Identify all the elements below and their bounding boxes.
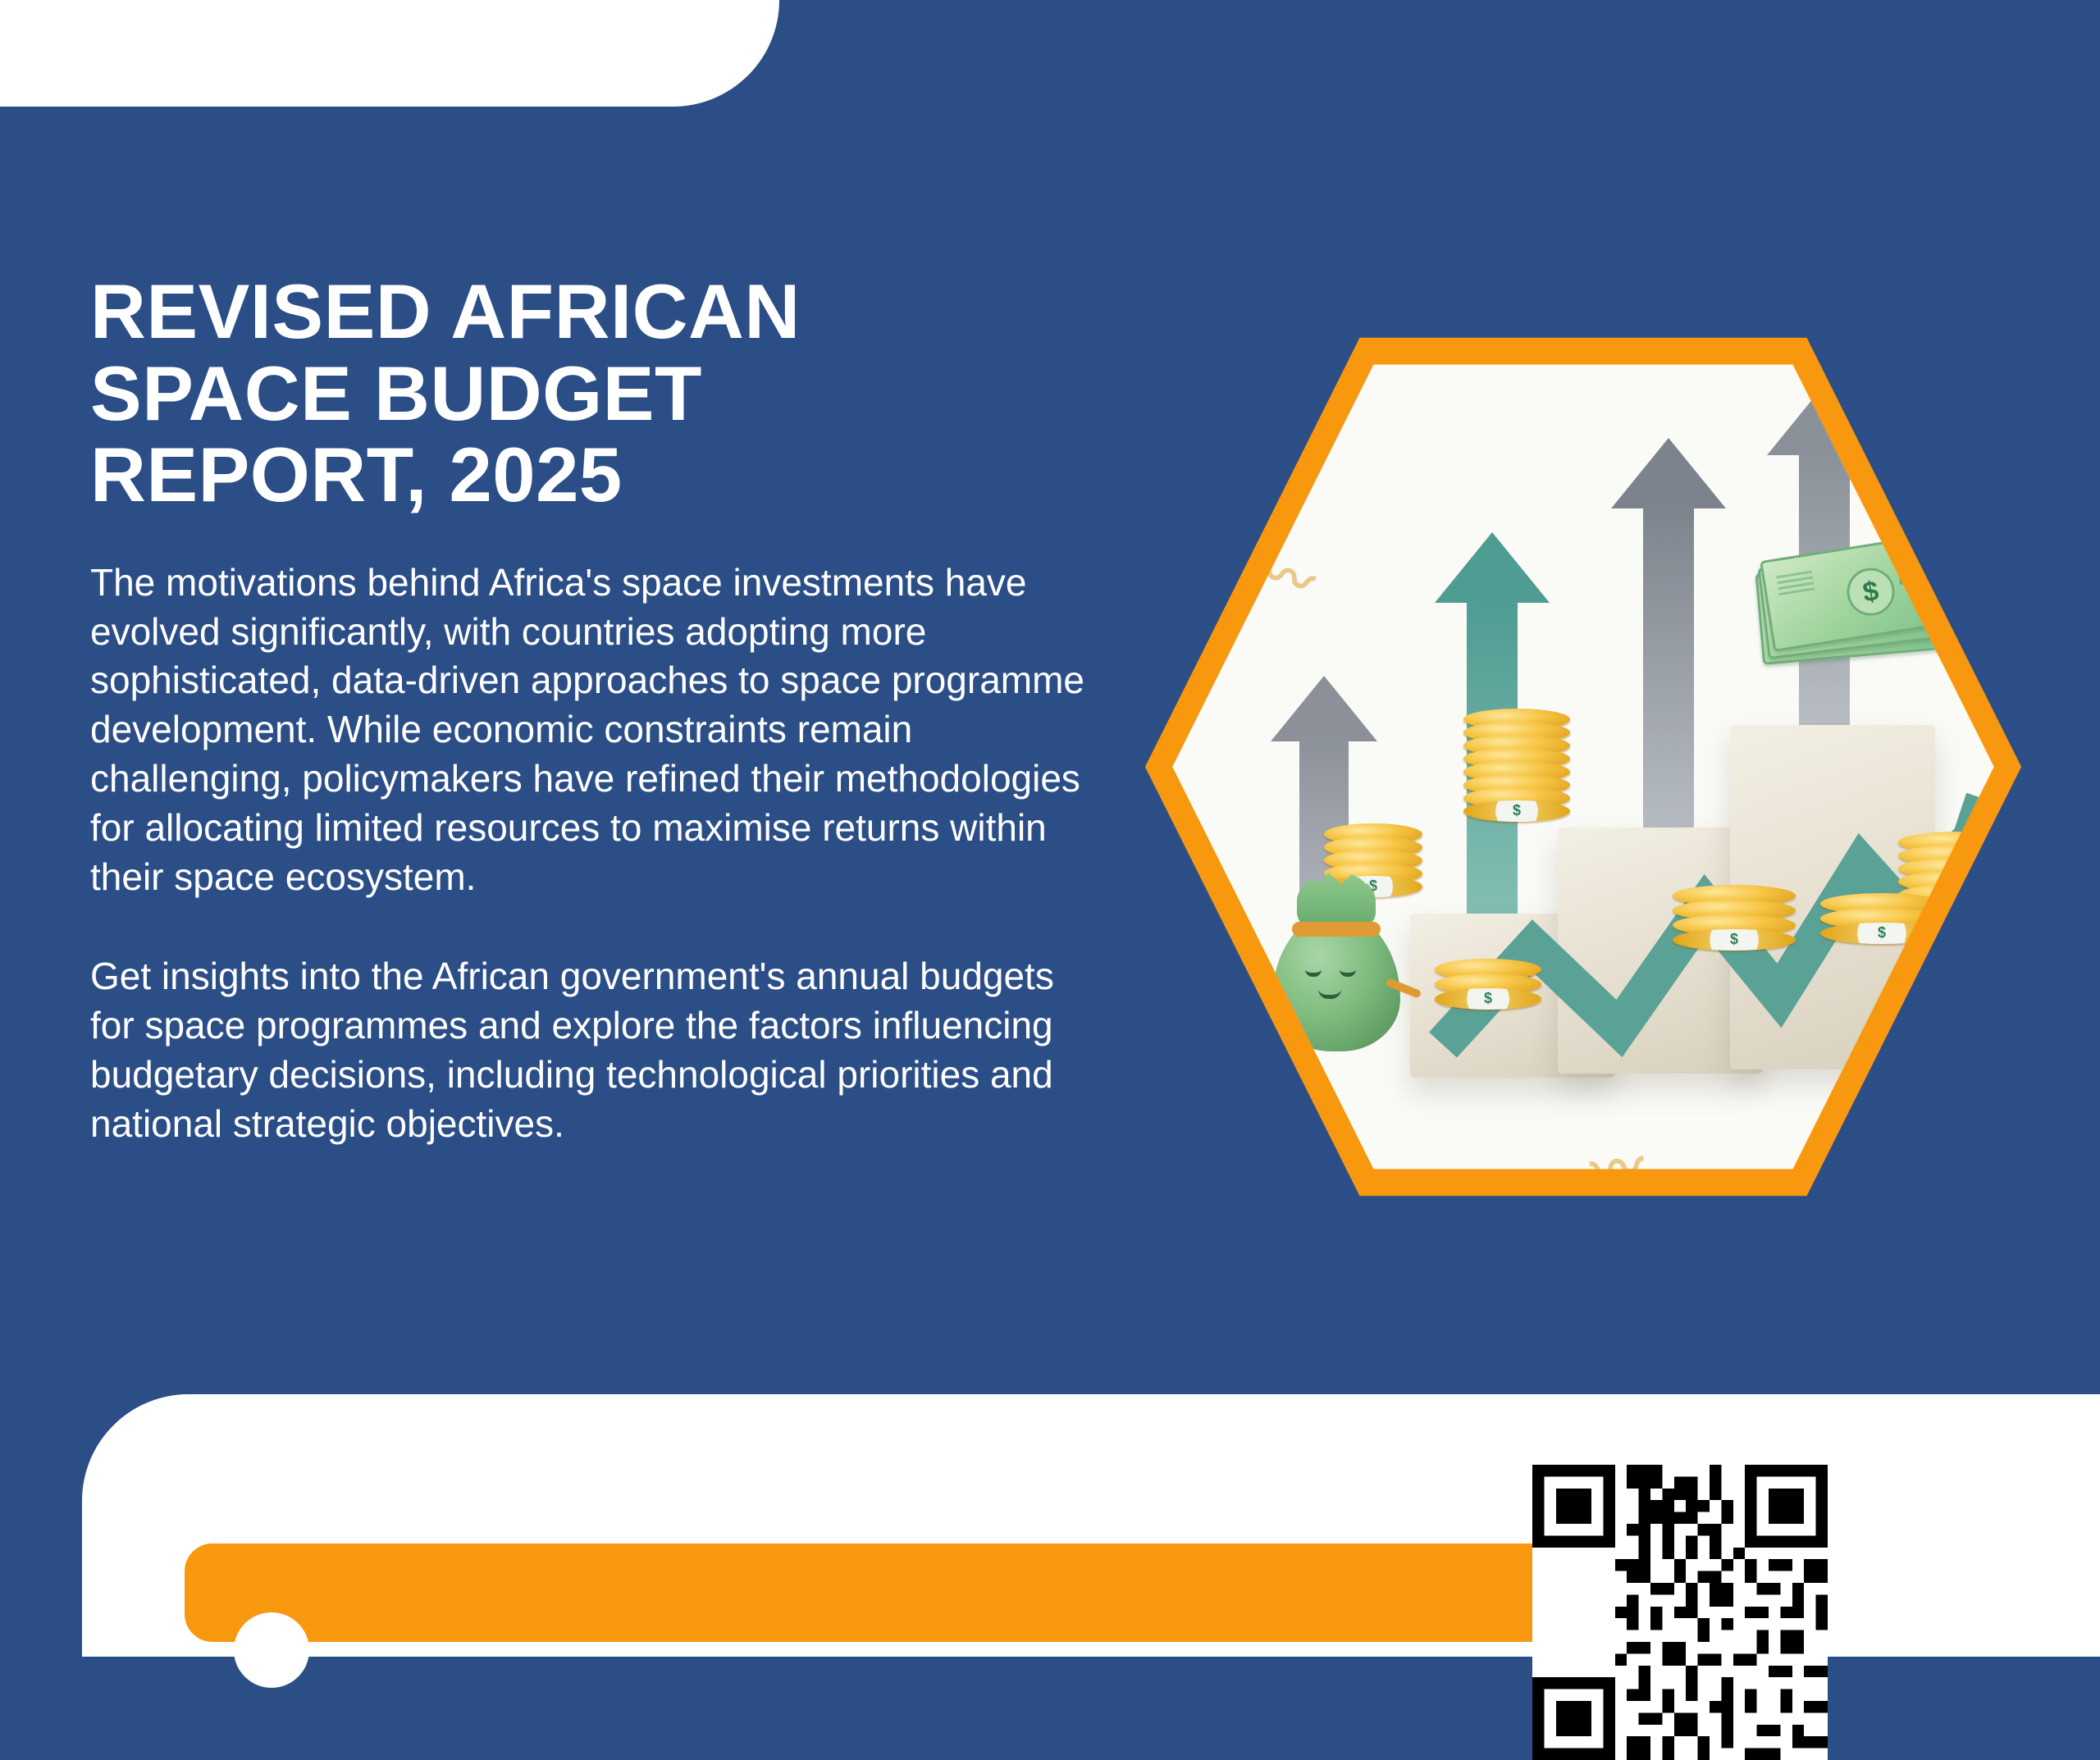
content-column: REVISED AFRICAN SPACE BUDGET REPORT, 202… xyxy=(90,271,1107,1149)
illustration-hexagon-frame: $ xyxy=(1136,320,2030,1214)
body-paragraph-1: The motivations behind Africa's space in… xyxy=(90,559,1099,902)
cta-icon-circle xyxy=(234,1612,309,1688)
page-title: REVISED AFRICAN SPACE BUDGET REPORT, 202… xyxy=(90,271,1009,516)
footer-cta-bar[interactable] xyxy=(185,1543,1563,1642)
brand-logo-text: SPACE IN AFRICA xyxy=(266,0,703,10)
africa-continent-icon xyxy=(146,0,225,3)
report-qr-code[interactable] xyxy=(1532,1465,1828,1760)
coin-stack-icon xyxy=(1463,709,1570,864)
africa-globe-orbit-logo-icon xyxy=(115,0,254,10)
illustration-image: $ xyxy=(1164,348,2002,1186)
brand-logo[interactable]: SPACE IN AFRICA xyxy=(115,0,703,10)
body-paragraph-2: Get insights into the African government… xyxy=(90,952,1099,1148)
qr-code-icon xyxy=(1532,1465,1828,1760)
coin-stack-icon xyxy=(1673,885,1796,975)
brand-header-panel: SPACE IN AFRICA xyxy=(0,0,779,107)
coin-stack-icon xyxy=(1435,959,1541,1033)
